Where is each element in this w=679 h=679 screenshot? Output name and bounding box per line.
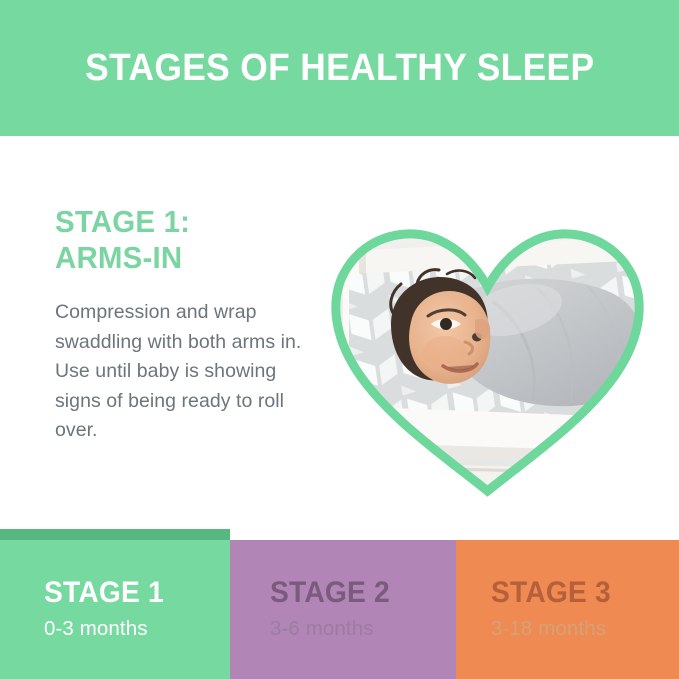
- main-content: STAGE 1: ARMS-IN Compression and wrap sw…: [0, 136, 679, 529]
- stage-panel-1-title: STAGE 1: [44, 577, 219, 609]
- stage-info-column: STAGE 1: ARMS-IN Compression and wrap sw…: [55, 204, 315, 446]
- stage-panel-3-age-range: 3-18 months: [491, 617, 679, 642]
- stage-panel-2[interactable]: STAGE 2 3-6 months: [230, 540, 456, 679]
- page-title: STAGES OF HEALTHY SLEEP: [85, 49, 594, 87]
- heart-photo: [325, 174, 650, 499]
- stage-panel-2-age-range: 3-6 months: [270, 617, 456, 642]
- infographic-root: STAGES OF HEALTHY SLEEP STAGE 1: ARMS-IN…: [0, 0, 679, 679]
- stage-heading: STAGE 1: ARMS-IN: [55, 204, 302, 276]
- stage-panels: STAGE 1 0-3 months STAGE 2 3-6 months ST…: [0, 540, 679, 679]
- stage-timeline-bar: STAGE 1 0-3 months STAGE 2 3-6 months ST…: [0, 529, 679, 679]
- stage-accent-strip: [0, 529, 230, 540]
- stage-panel-1[interactable]: STAGE 1 0-3 months: [0, 540, 230, 679]
- header-banner: STAGES OF HEALTHY SLEEP: [0, 0, 679, 136]
- stage-panel-1-age-range: 0-3 months: [44, 617, 230, 642]
- stage-panel-3-title: STAGE 3: [491, 577, 668, 609]
- stage-heading-line-2: ARMS-IN: [55, 240, 302, 276]
- stage-panel-3[interactable]: STAGE 3 3-18 months: [456, 540, 679, 679]
- stage-heading-line-1: STAGE 1:: [55, 204, 302, 240]
- photo-content: [325, 174, 650, 499]
- stage-description: Compression and wrap swaddling with both…: [55, 298, 305, 446]
- stage-panel-2-title: STAGE 2: [270, 577, 445, 609]
- heart-icon: [325, 174, 650, 499]
